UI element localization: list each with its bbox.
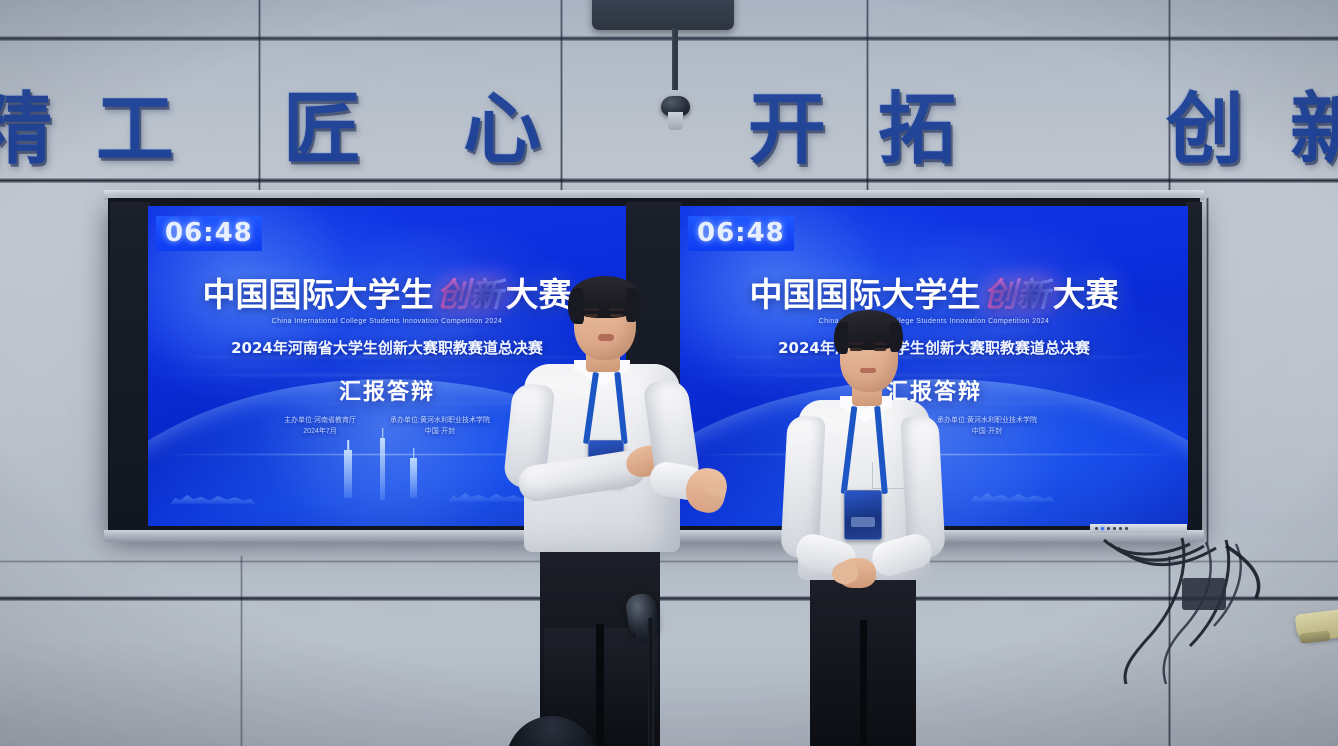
countdown-timer: 06:48 (688, 216, 794, 251)
wall-joint-horizontal (0, 178, 1338, 183)
presenter-left (500, 268, 750, 746)
cable-bundle (1086, 534, 1338, 684)
control-indicator (1107, 527, 1110, 530)
tower-graphic (344, 450, 352, 498)
presenter-left-eye (585, 314, 598, 317)
presenter-right (776, 300, 976, 746)
presenter-right-mouth (860, 368, 876, 373)
control-indicator (1113, 527, 1116, 530)
wall-joint-horizontal (0, 36, 1338, 41)
tower-graphic (410, 458, 417, 498)
wall-joint-vertical (1206, 198, 1209, 546)
signage-char: 心 (463, 82, 541, 178)
signage-char: 创 (1166, 82, 1244, 178)
organizer-undertaker: 承办单位:黄河水利职业技术学院 中国·开封 (390, 416, 490, 438)
presenter-right-eye (850, 348, 862, 351)
signage-char: 拓 (878, 82, 956, 178)
wall-joint-vertical (240, 556, 243, 746)
display-bezel-right (1186, 202, 1202, 530)
ceiling-panel (592, 0, 734, 30)
slide-title-before: 中国国际大学生 (203, 275, 434, 314)
slide-title-highlight: 创新 (981, 275, 1053, 314)
presenter-left-eye (610, 314, 623, 317)
tower-graphic (380, 438, 385, 500)
control-indicator-active (1101, 527, 1104, 530)
control-indicator (1119, 527, 1122, 530)
signage-char: 开 (748, 82, 826, 178)
control-indicator (1095, 527, 1098, 530)
presenter-right-eye (874, 348, 886, 351)
display-control-strip[interactable] (1090, 524, 1187, 533)
display-bezel-left (110, 202, 150, 530)
screenshot-stage: 精 工 匠 心 开 拓 创 新 06:48 (0, 0, 1338, 746)
signage-char: 新 (1290, 82, 1338, 178)
signage-char: 精 (0, 82, 52, 178)
slide-title-after: 大赛 (1053, 275, 1119, 314)
organizer-host: 主办单位:河南省教育厅 2024年7月 (284, 416, 356, 438)
slide-title-highlight: 创新 (434, 275, 506, 314)
microphone-stand (648, 618, 654, 746)
signage-char: 工 (96, 82, 174, 178)
presenter-left-mouth (598, 334, 614, 341)
countdown-timer: 06:48 (156, 216, 262, 251)
signage-char: 匠 (283, 82, 361, 178)
camera-body (668, 112, 683, 130)
presenter-right-badge (844, 490, 882, 540)
control-indicator (1125, 527, 1128, 530)
microphone-clip (635, 625, 649, 642)
camera-pole (672, 28, 678, 90)
